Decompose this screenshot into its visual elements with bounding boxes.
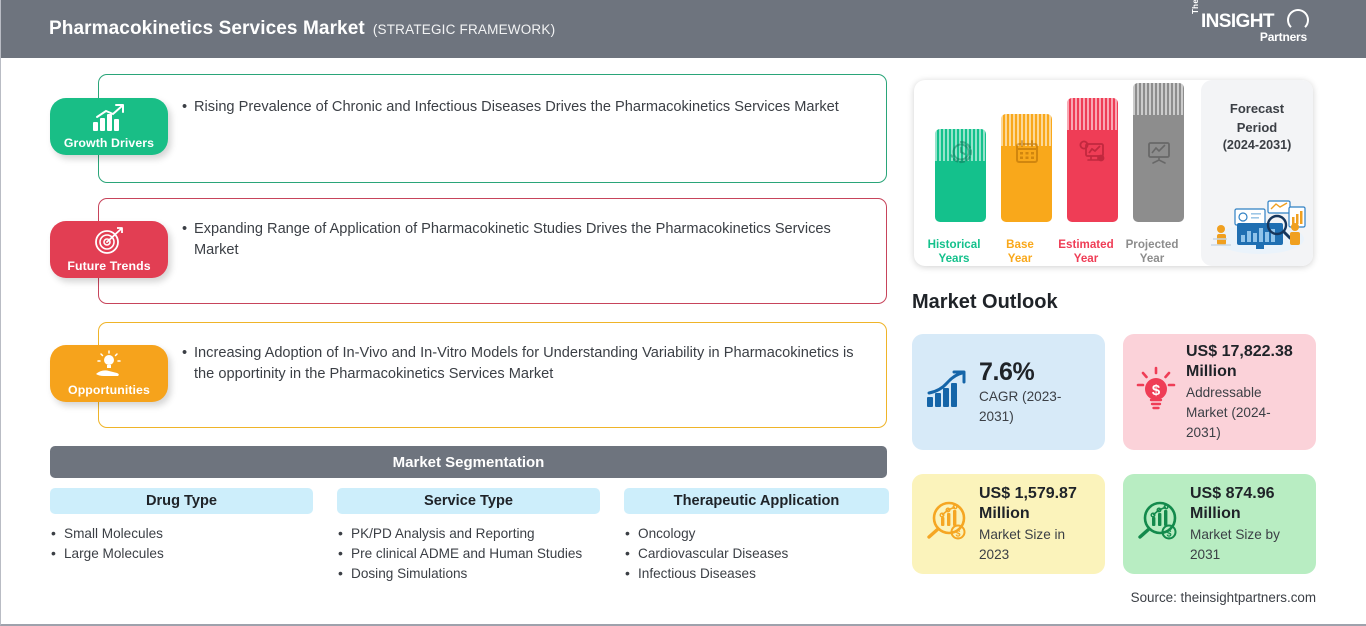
caption-line-1: Base — [1006, 238, 1034, 251]
timeline-bar-projected: 2031 Projected Year — [1126, 80, 1182, 266]
list-item: Cardiovascular Diseases — [624, 544, 889, 564]
segmentation-column-drug-type: Drug Type Small Molecules Large Molecule… — [50, 488, 313, 564]
list-item: Small Molecules — [50, 524, 313, 544]
market-timeline-card: 2021-2022 Historical Years — [914, 80, 1313, 266]
timeline-bar-caption: Base Year — [988, 238, 1052, 266]
outlook-card-addressable-market[interactable]: $ US$ 17,822.38 Million Addressable Mark… — [1123, 334, 1316, 450]
opportunities-text-wrap: •Increasing Adoption of In-Vivo and In-V… — [194, 343, 870, 385]
presentation-chart-icon — [1145, 139, 1173, 170]
market-segmentation-header: Market Segmentation — [50, 446, 887, 478]
outlook-card-addressable-market-value: US$ 17,822.38 Million — [1186, 342, 1304, 382]
outlook-card-market-size-2023-value: US$ 1,579.87 Million — [979, 484, 1093, 524]
future-trends-text-wrap: •Expanding Range of Application of Pharm… — [194, 219, 870, 261]
logo-arc-icon — [1287, 9, 1309, 31]
business-analytics-illustration — [1205, 193, 1309, 260]
timeline-bar-body — [935, 129, 986, 222]
bullet-marker: • — [182, 219, 187, 240]
list-item: Dosing Simulations — [337, 564, 600, 584]
market-segmentation-title: Market Segmentation — [393, 454, 545, 471]
lightbulb-dollar-icon: $ — [1135, 366, 1177, 419]
opportunities-text: Increasing Adoption of In-Vivo and In-Vi… — [194, 345, 854, 382]
bar-chart-growth-icon — [91, 103, 127, 138]
segmentation-list-drug-type: Small Molecules Large Molecules — [50, 524, 313, 564]
timeline-bar-body — [1067, 98, 1118, 222]
outlook-card-market-size-2031-value: US$ 874.96 Million — [1190, 484, 1304, 524]
outlook-card-cagr[interactable]: 7.6% CAGR (2023-2031) — [912, 334, 1105, 450]
forecast-period-panel: Forecast Period (2024-2031) — [1201, 80, 1313, 266]
page-subtitle: (STRATEGIC FRAMEWORK) — [373, 22, 555, 37]
logo-partners-text: Partners — [1260, 30, 1307, 44]
source-attribution: Source: theinsightpartners.com — [1131, 590, 1316, 605]
clock-history-icon — [948, 139, 974, 170]
caption-line-2: Year — [1008, 252, 1033, 265]
segmentation-column-therapeutic-application: Therapeutic Application Oncology Cardiov… — [624, 488, 889, 584]
badge-growth-drivers[interactable]: Growth Drivers — [50, 98, 168, 155]
list-item: Large Molecules — [50, 544, 313, 564]
growth-chart-arrow-icon — [924, 369, 970, 416]
magnifier-chart-dollar-icon: $ — [924, 499, 970, 550]
outlook-card-cagr-value: 7.6% — [979, 358, 1034, 386]
segmentation-list-service-type: PK/PD Analysis and Reporting Pre clinica… — [337, 524, 600, 584]
market-outlook-title: Market Outlook — [912, 291, 1058, 314]
segmentation-list-therapeutic-application: Oncology Cardiovascular Diseases Infecti… — [624, 524, 889, 584]
growth-drivers-panel: •Rising Prevalence of Chronic and Infect… — [98, 74, 887, 183]
badge-future-trends-label: Future Trends — [67, 259, 150, 278]
timeline-bar-body — [1001, 114, 1052, 222]
caption-line-2: Years — [939, 252, 970, 265]
outlook-card-addressable-market-body: US$ 17,822.38 Million Addressable Market… — [1186, 342, 1304, 443]
badge-opportunities[interactable]: Opportunities — [50, 345, 168, 402]
timeline-bar-estimated: 2024 Estimated Year — [1060, 80, 1116, 266]
timeline-bar-caption: Estimated Year — [1054, 238, 1118, 266]
badge-opportunities-label: Opportunities — [68, 383, 150, 402]
badge-growth-drivers-label: Growth Drivers — [64, 136, 154, 155]
outlook-card-market-size-2031-body: US$ 874.96 Million Market Size by 2031 — [1190, 484, 1304, 565]
logo-the-text: The — [1191, 0, 1200, 14]
caption-line-2: Year — [1074, 252, 1099, 265]
segmentation-title-drug-type[interactable]: Drug Type — [50, 488, 313, 514]
segmentation-title-therapeutic-application[interactable]: Therapeutic Application — [624, 488, 889, 514]
svg-text:$: $ — [1166, 528, 1171, 538]
target-dart-icon — [93, 226, 125, 261]
timeline-bar-stripes — [1067, 98, 1118, 130]
outlook-card-market-size-2031[interactable]: $ US$ 874.96 Million Market Size by 2031 — [1123, 474, 1316, 574]
forecast-screen-icon — [1079, 139, 1107, 170]
bullet-marker: • — [182, 343, 187, 364]
future-trends-panel: •Expanding Range of Application of Pharm… — [98, 198, 887, 304]
timeline-bar-stripes — [1133, 83, 1184, 115]
outlook-card-cagr-body: 7.6% CAGR (2023-2031) — [979, 358, 1093, 427]
timeline-bar-historical: 2021-2022 Historical Years — [928, 80, 984, 266]
svg-text:$: $ — [955, 528, 960, 538]
outlook-card-market-size-2023-body: US$ 1,579.87 Million Market Size in 2023 — [979, 484, 1093, 565]
calendar-icon — [1014, 139, 1040, 170]
magnifier-chart-dollar-icon: $ — [1135, 499, 1181, 550]
outlook-card-market-size-2031-label: Market Size by 2031 — [1190, 525, 1304, 565]
caption-line-2: Year — [1140, 252, 1165, 265]
caption-line-1: Historical — [928, 238, 981, 251]
list-item: Oncology — [624, 524, 889, 544]
growth-drivers-text-wrap: •Rising Prevalence of Chronic and Infect… — [194, 97, 870, 118]
list-item: Pre clinical ADME and Human Studies — [337, 544, 600, 564]
forecast-title-line-1: Forecast — [1230, 101, 1284, 116]
timeline-bars: 2021-2022 Historical Years — [928, 80, 1164, 266]
forecast-period-title: Forecast Period — [1201, 99, 1313, 137]
timeline-bar-body — [1133, 83, 1184, 222]
future-trends-text: Expanding Range of Application of Pharma… — [194, 221, 831, 258]
page-title: Pharmacokinetics Services Market(STRATEG… — [49, 18, 555, 40]
list-item: Infectious Diseases — [624, 564, 889, 584]
outlook-card-cagr-label: CAGR (2023-2031) — [979, 387, 1093, 427]
page-header: Pharmacokinetics Services Market(STRATEG… — [1, 0, 1366, 58]
segmentation-title-service-type[interactable]: Service Type — [337, 488, 600, 514]
opportunities-panel: •Increasing Adoption of In-Vivo and In-V… — [98, 322, 887, 428]
caption-line-1: Estimated — [1058, 238, 1113, 251]
timeline-bar-base: 2023 — [994, 80, 1050, 266]
list-item: PK/PD Analysis and Reporting — [337, 524, 600, 544]
timeline-bar-caption: Projected Year — [1120, 238, 1184, 266]
timeline-bar-caption: Historical Years — [922, 238, 986, 266]
insight-partners-logo[interactable]: The INSIGHT Partners — [1191, 9, 1311, 49]
growth-drivers-text: Rising Prevalence of Chronic and Infecti… — [194, 99, 839, 115]
badge-future-trends[interactable]: Future Trends — [50, 221, 168, 278]
svg-text:$: $ — [1152, 382, 1161, 399]
segmentation-column-service-type: Service Type PK/PD Analysis and Reportin… — [337, 488, 600, 584]
forecast-period-years: (2024-2031) — [1201, 138, 1313, 152]
caption-line-1: Projected — [1126, 238, 1179, 251]
bullet-marker: • — [182, 97, 187, 118]
outlook-card-market-size-2023-label: Market Size in 2023 — [979, 525, 1093, 565]
lightbulb-hand-icon — [92, 350, 126, 385]
infographic-page: Pharmacokinetics Services Market(STRATEG… — [0, 0, 1366, 626]
outlook-card-addressable-market-label: Addressable Market (2024-2031) — [1186, 383, 1304, 443]
outlook-card-market-size-2023[interactable]: $ US$ 1,579.87 Million Market Size in 20… — [912, 474, 1105, 574]
page-title-text: Pharmacokinetics Services Market — [49, 18, 365, 39]
forecast-title-line-2: Period — [1237, 120, 1277, 135]
